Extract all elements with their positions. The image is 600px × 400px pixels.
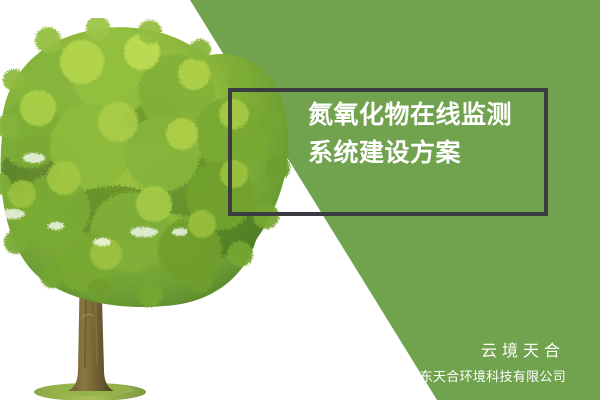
tree-trunk [68,264,114,391]
title-line-2: 系统建设方案 [308,134,558,172]
cover-slide: 氮氧化物在线监测 系统建设方案 云境天合 山东天合环境科技有限公司 [0,0,600,400]
tree-branches [32,208,160,270]
brand-name: 云境天合 [406,340,566,364]
page-title: 氮氧化物在线监测 系统建设方案 [308,96,558,172]
tree-base [34,383,146,400]
title-line-1: 氮氧化物在线监测 [308,96,558,134]
brand-company-name: 山东天合环境科技有限公司 [406,366,566,388]
brand-block: 云境天合 山东天合环境科技有限公司 [406,340,566,388]
